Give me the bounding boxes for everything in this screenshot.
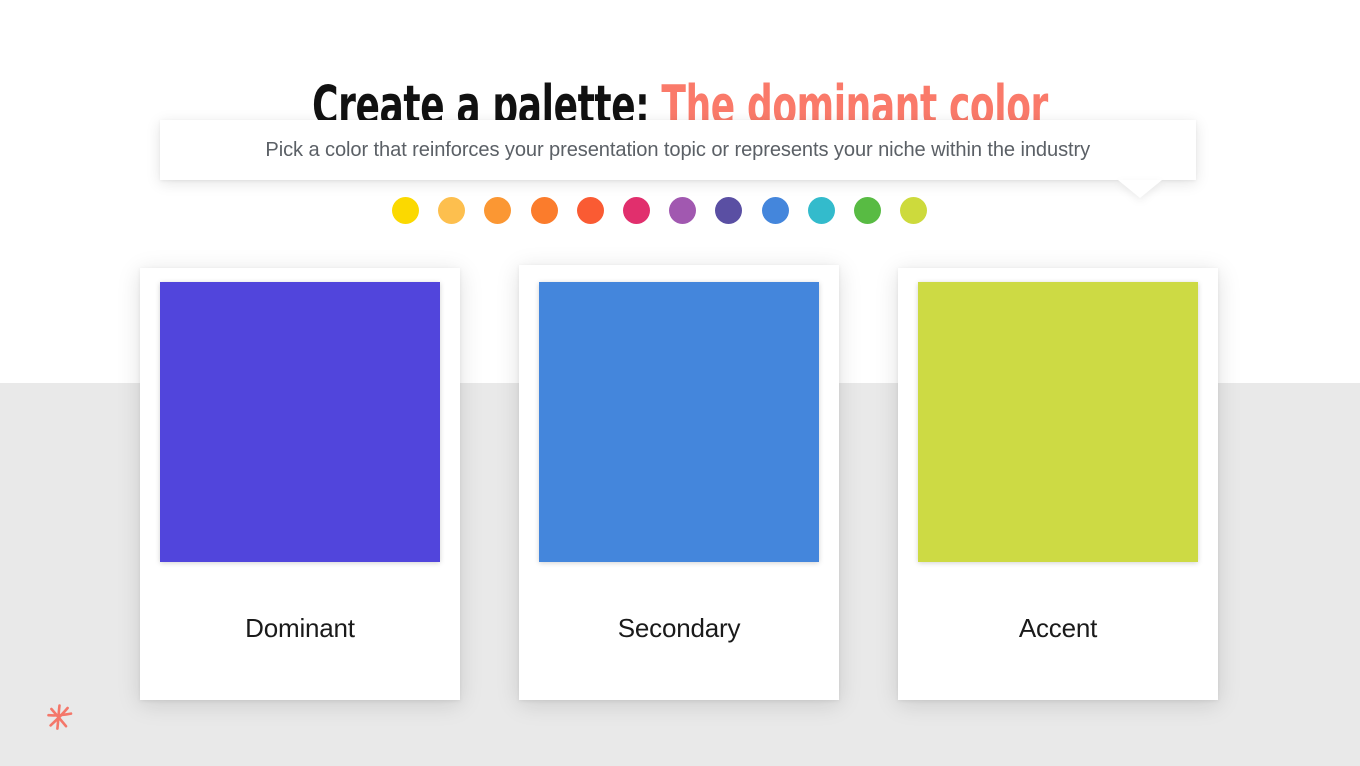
dot-violet[interactable] [715,197,742,224]
palette-card-label: Dominant [140,613,460,644]
dot-green[interactable] [854,197,881,224]
asterisk-icon [42,700,76,734]
slide-canvas: Create a palette: The dominant color Pic… [0,0,1360,766]
subtitle-bubble: Pick a color that reinforces your presen… [160,120,1196,180]
subtitle-bubble-tail [1118,180,1162,198]
palette-card-label: Secondary [519,613,839,644]
color-swatch-accent[interactable] [918,282,1198,562]
subtitle-text: Pick a color that reinforces your presen… [266,137,1091,163]
dot-yellow-green[interactable] [900,197,927,224]
palette-card-secondary[interactable]: Secondary [519,265,839,700]
palette-card-accent[interactable]: Accent [898,268,1218,700]
dot-teal[interactable] [808,197,835,224]
palette-card-label: Accent [898,613,1218,644]
dot-yellow[interactable] [392,197,419,224]
dot-red-orange[interactable] [577,197,604,224]
dot-amber[interactable] [438,197,465,224]
palette-dot-row [392,196,948,224]
dot-blue[interactable] [762,197,789,224]
palette-card-dominant[interactable]: Dominant [140,268,460,700]
color-swatch-dominant[interactable] [160,282,440,562]
dot-orange[interactable] [484,197,511,224]
dot-dark-orange[interactable] [531,197,558,224]
color-swatch-secondary[interactable] [539,282,819,562]
dot-pink[interactable] [623,197,650,224]
dot-orchid[interactable] [669,197,696,224]
